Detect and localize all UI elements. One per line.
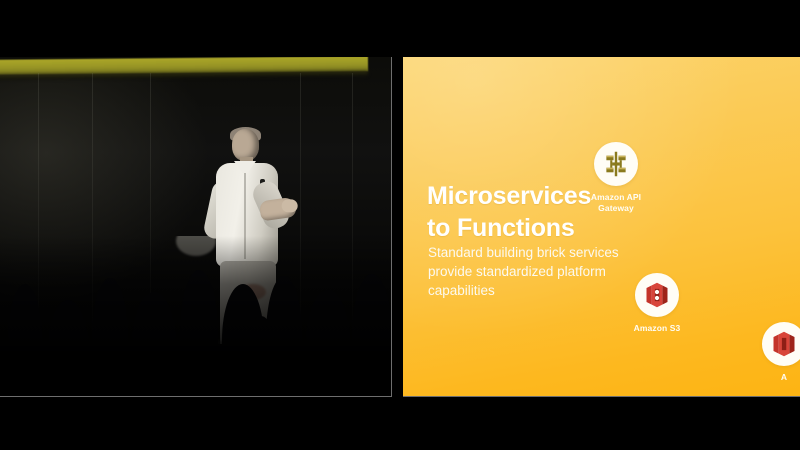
amazon-api-gateway-icon	[602, 150, 630, 178]
service-icon-disc	[762, 322, 800, 366]
audience-silhouettes	[0, 236, 391, 396]
service-amazon-clipped: A	[742, 322, 800, 383]
presentation-slide-panel: Microservices to Functions Standard buil…	[403, 57, 800, 397]
service-label-line-1: A	[742, 372, 800, 383]
service-label: A	[742, 372, 800, 383]
letterbox-bottom	[0, 398, 800, 450]
service-label: Amazon API Gateway	[574, 192, 658, 214]
speaker-hands	[259, 197, 297, 222]
service-amazon-s3: Amazon S3	[615, 273, 699, 334]
video-player-frame: Microservices to Functions Standard buil…	[0, 0, 800, 450]
service-icon-disc	[635, 273, 679, 317]
service-label-line-1: Amazon API	[574, 192, 658, 203]
camera-feed-panel	[0, 57, 392, 397]
service-label: Amazon S3	[615, 323, 699, 334]
slide-subtitle: Standard building brick services provide…	[428, 243, 628, 300]
audience-vignette	[0, 236, 391, 396]
amazon-s3-icon	[643, 281, 671, 309]
service-amazon-api-gateway: Amazon API Gateway	[574, 142, 658, 214]
amazon-service-icon	[770, 330, 798, 358]
panel-gutter	[392, 57, 403, 398]
service-label-line-2: Gateway	[574, 203, 658, 214]
slide-title-line-2: to Functions	[427, 213, 637, 245]
service-label-line-1: Amazon S3	[615, 323, 699, 334]
letterbox-top	[0, 0, 800, 57]
service-icon-disc	[594, 142, 638, 186]
